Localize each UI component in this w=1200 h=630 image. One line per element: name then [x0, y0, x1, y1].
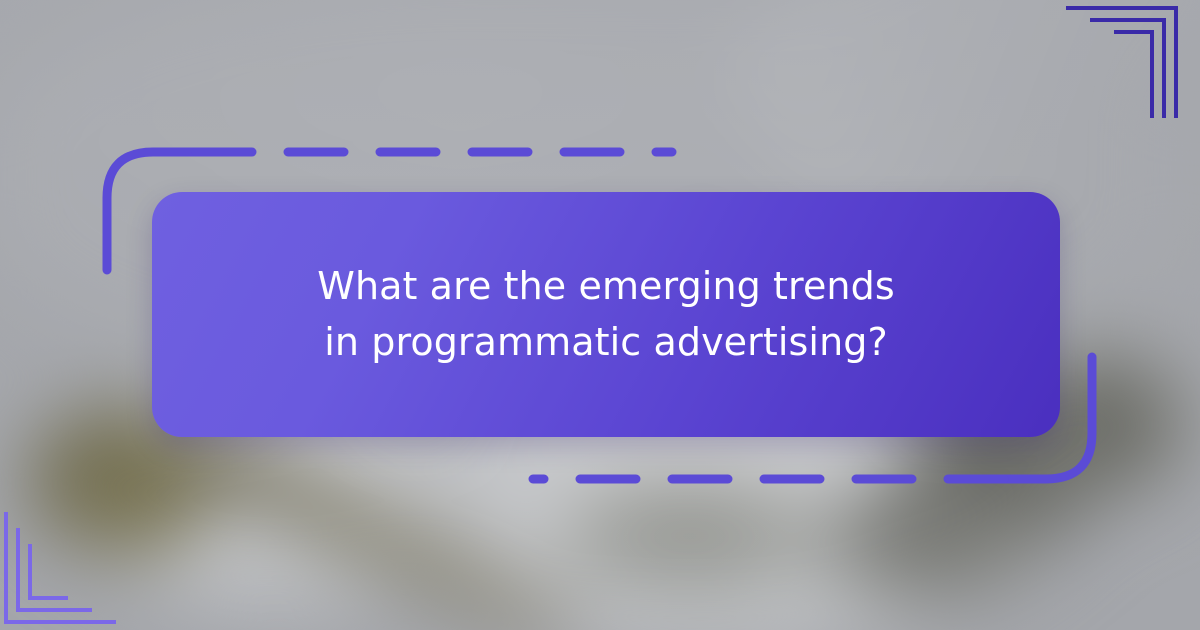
corner-bracket-bottom-left-lines [6, 512, 116, 622]
corner-bracket-top-right-lines [1066, 8, 1176, 118]
bracket-tr-line-outer [1066, 8, 1176, 118]
question-card: What are the emerging trends in programm… [152, 192, 1060, 437]
bracket-bl-line-outer [6, 512, 116, 622]
bracket-tr-line-inner [1114, 32, 1152, 118]
social-card-canvas: What are the emerging trends in programm… [0, 0, 1200, 630]
question-card-title: What are the emerging trends in programm… [306, 259, 906, 369]
bracket-bl-line-inner [30, 544, 68, 598]
